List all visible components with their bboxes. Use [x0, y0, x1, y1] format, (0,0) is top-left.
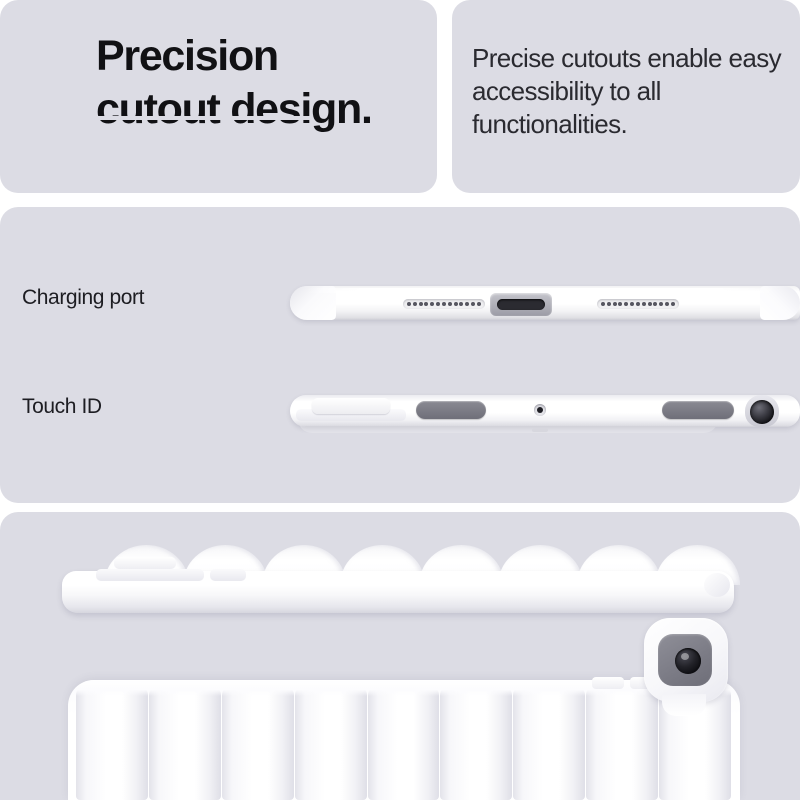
feature-label-charging-port: Charging port — [22, 286, 144, 310]
case-rib — [222, 686, 294, 800]
description-panel: Precise cutouts enable easy accessibilit… — [452, 0, 800, 193]
grille-dot — [436, 302, 440, 306]
cutout-features-panel: Charging port Touch ID — [0, 207, 800, 503]
microphone-slot — [532, 428, 548, 432]
case-top-flap-upper — [312, 398, 390, 414]
microphone-hole-icon — [534, 404, 546, 416]
page-title: Precision cutout design. — [96, 30, 426, 136]
case-back-shell — [68, 680, 740, 800]
grille-dot — [459, 302, 463, 306]
grille-dot — [671, 302, 675, 306]
grille-dot — [601, 302, 605, 306]
case-rib — [76, 686, 148, 800]
grille-dot — [442, 302, 446, 306]
speaker-grille-right-icon — [597, 299, 679, 309]
grille-dot — [613, 302, 617, 306]
camera-lens-icon — [675, 648, 701, 674]
grille-dot — [653, 302, 657, 306]
case-back-tab-left — [592, 677, 624, 689]
grille-dot — [465, 302, 469, 306]
grille-dot — [630, 302, 634, 306]
case-profile-button-cutout-1 — [114, 557, 176, 569]
case-profile-button-cutout-2 — [96, 569, 204, 581]
grille-dot — [454, 302, 458, 306]
camera-module-foot — [662, 694, 706, 716]
product-feature-image: Precision cutout design. Precise cutouts… — [0, 0, 800, 800]
speaker-grille-left-icon — [403, 299, 485, 309]
grille-dot — [413, 302, 417, 306]
description-text: Precise cutouts enable easy accessibilit… — [472, 42, 788, 141]
case-rib — [513, 686, 585, 800]
case-rib — [368, 686, 440, 800]
case-side-profile — [62, 545, 734, 613]
headline-line-2-wrapper: cutout design. — [96, 83, 372, 136]
power-touch-id-button-icon — [662, 401, 734, 419]
headphone-jack-opening — [750, 400, 774, 424]
case-rib — [295, 686, 367, 800]
usb-c-port-opening — [497, 299, 545, 310]
microphone-pin — [537, 407, 543, 413]
grille-dot — [430, 302, 434, 306]
case-back-photo — [68, 680, 740, 800]
grille-dot — [407, 302, 411, 306]
grille-dot — [419, 302, 423, 306]
grille-dot — [471, 302, 475, 306]
headline-panel: Precision cutout design. — [0, 0, 437, 193]
case-profile-corner-nub — [704, 573, 730, 597]
case-rib — [149, 686, 221, 800]
tablet-top-edge-photo — [290, 387, 800, 439]
feature-label-touch-id: Touch ID — [22, 395, 102, 419]
grille-dot — [624, 302, 628, 306]
grille-dot — [648, 302, 652, 306]
grille-dot — [607, 302, 611, 306]
grille-dot — [642, 302, 646, 306]
camera-module — [644, 618, 728, 714]
grille-dot — [448, 302, 452, 306]
volume-button-icon — [416, 401, 486, 419]
usb-c-port-icon — [490, 293, 552, 316]
grille-dot — [659, 302, 663, 306]
grille-dot — [424, 302, 428, 306]
headline-line-1: Precision — [96, 32, 278, 80]
grille-dot — [665, 302, 669, 306]
case-back-ribs — [76, 686, 732, 800]
headline-line-2: cutout design. — [96, 85, 372, 133]
headphone-jack-icon — [745, 395, 779, 427]
grille-dot — [636, 302, 640, 306]
camera-lens-glint — [681, 653, 689, 660]
grille-dot — [477, 302, 481, 306]
grille-dot — [618, 302, 622, 306]
tablet-bottom-edge-photo — [290, 279, 800, 327]
case-profile-button-cutout-3 — [210, 569, 246, 581]
case-rib — [440, 686, 512, 800]
